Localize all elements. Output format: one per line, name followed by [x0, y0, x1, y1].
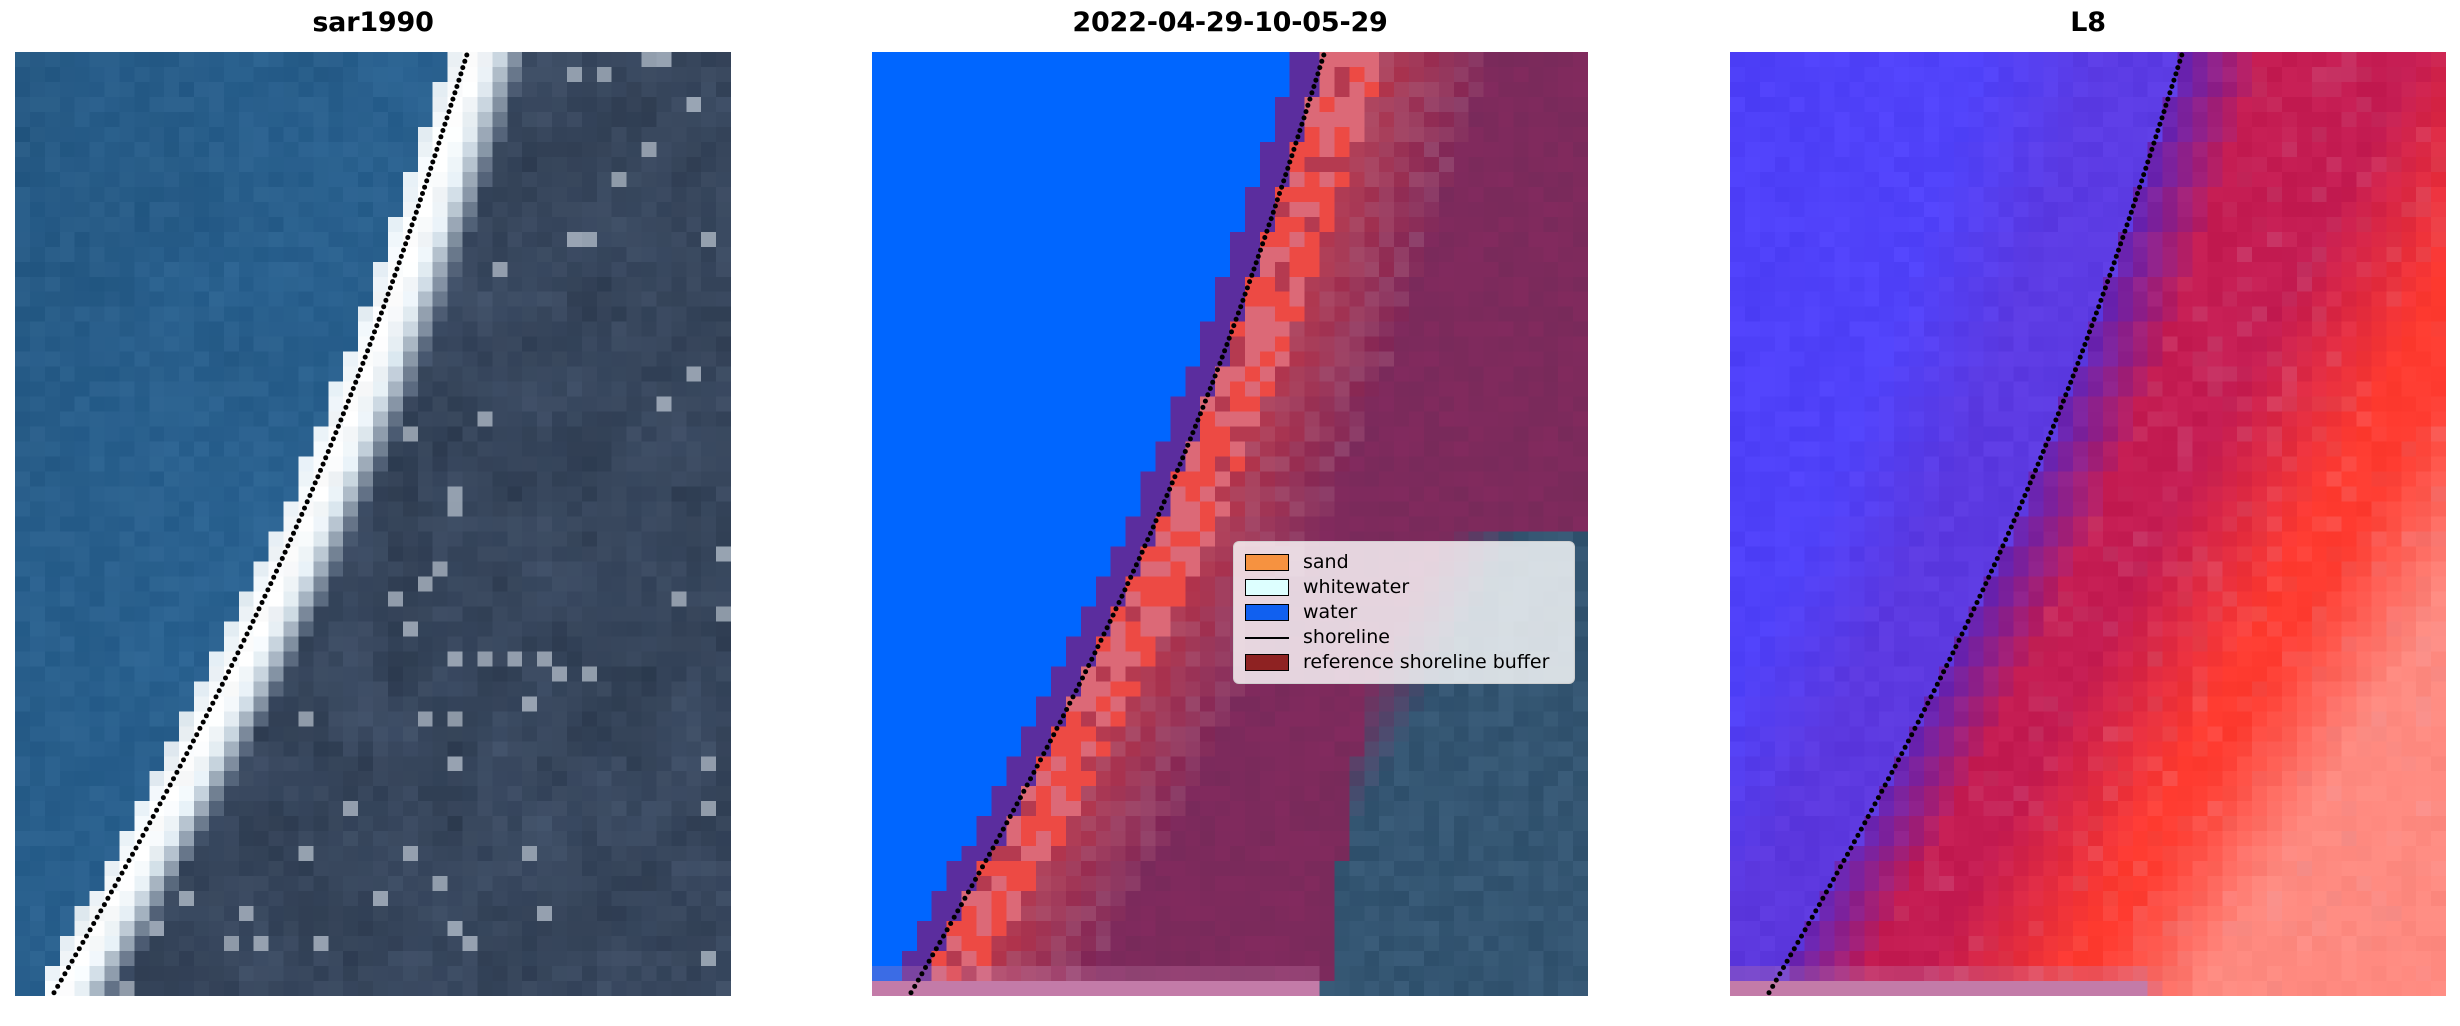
legend-item-sand: sand	[1244, 550, 1562, 575]
panel-title-l8: L8	[1730, 6, 2446, 40]
image-l8[interactable]	[1730, 52, 2446, 996]
panel-l8: L8	[1730, 0, 2446, 1026]
legend-label-water: water	[1303, 600, 1357, 625]
shoreline-comparison-figure: sar1990 2022-04-29-10-05-29 sand whit	[0, 0, 2460, 1026]
legend-item-water: water	[1244, 600, 1562, 625]
legend-item-whitewater: whitewater	[1244, 575, 1562, 600]
panel-sar1990: sar1990	[15, 0, 731, 1026]
legend-label-shoreline: shoreline	[1303, 625, 1390, 650]
legend-item-shoreline: shoreline	[1244, 625, 1562, 650]
legend-label-sand: sand	[1303, 550, 1349, 575]
legend: sand whitewater water shoreline	[1233, 541, 1575, 684]
image-classification[interactable]	[872, 52, 1588, 996]
legend-line-shoreline	[1244, 625, 1290, 650]
legend-label-whitewater: whitewater	[1303, 575, 1409, 600]
legend-swatch-reference-shoreline-buffer	[1244, 650, 1290, 675]
legend-swatch-sand	[1244, 550, 1290, 575]
legend-swatch-whitewater	[1244, 575, 1290, 600]
axes-l8[interactable]	[1730, 52, 2446, 996]
image-sar1990[interactable]	[15, 52, 731, 996]
legend-swatch-water	[1244, 600, 1290, 625]
axes-classification[interactable]	[872, 52, 1588, 996]
legend-label-reference-shoreline-buffer: reference shoreline buffer	[1303, 650, 1549, 675]
axes-sar1990[interactable]	[15, 52, 731, 996]
panel-title-classification: 2022-04-29-10-05-29	[872, 6, 1588, 40]
legend-item-reference-shoreline-buffer: reference shoreline buffer	[1244, 650, 1562, 675]
panel-classification: 2022-04-29-10-05-29 sand whitewater	[872, 0, 1588, 1026]
panel-title-sar1990: sar1990	[15, 6, 731, 40]
